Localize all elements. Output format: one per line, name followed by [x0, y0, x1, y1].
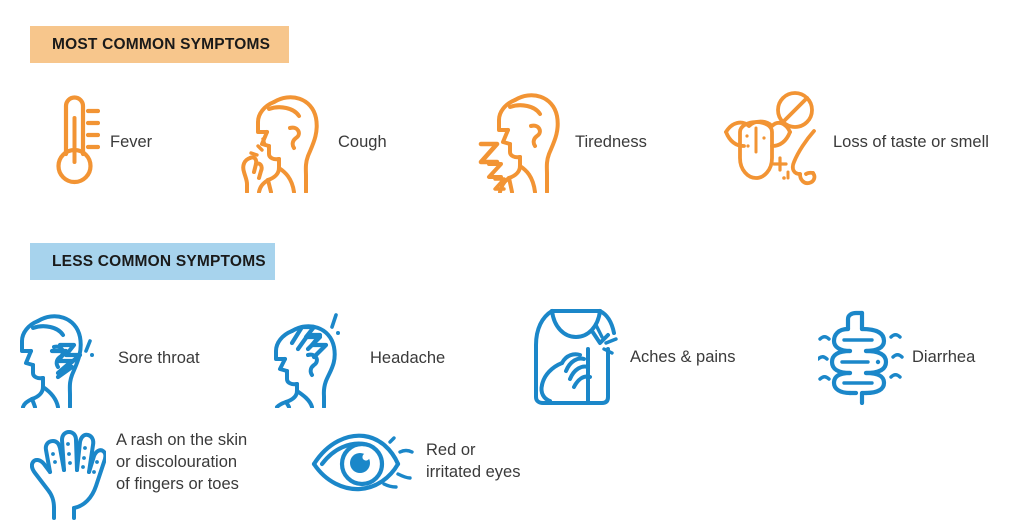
- symptom-headache-label: Headache: [370, 348, 445, 370]
- banner-most-common-symptoms: MOST COMMON SYMPTOMS: [30, 26, 289, 63]
- symptom-sore-throat-label: Sore throat: [118, 348, 200, 370]
- hand-rash-icon: [30, 428, 106, 525]
- symptom-sore-throat: Sore throat: [14, 305, 200, 413]
- tongue-nose-blocked-icon: [718, 88, 823, 198]
- symptom-fever: Fever: [40, 88, 152, 198]
- symptom-rash-on-skin: A rash on the skin or discolouration of …: [30, 428, 247, 525]
- symptom-cough: Cough: [238, 88, 387, 198]
- banner-less-common-symptoms: LESS COMMON SYMPTOMS: [30, 243, 275, 280]
- symptom-tiredness-label: Tiredness: [575, 132, 647, 154]
- symptom-cough-label: Cough: [338, 132, 387, 154]
- symptom-fever-label: Fever: [110, 132, 152, 154]
- symptom-aches-and-pains: Aches & pains: [530, 305, 735, 410]
- eye-icon: [308, 432, 416, 499]
- symptom-diarrhea: Diarrhea: [818, 305, 975, 410]
- symptom-headache: Headache: [268, 305, 445, 413]
- symptom-loss-of-taste-or-smell-label: Loss of taste or smell: [833, 132, 989, 154]
- symptom-loss-of-taste-or-smell: Loss of taste or smell: [718, 88, 989, 198]
- coughing-person-icon: [238, 88, 328, 198]
- throat-pain-icon: [14, 305, 110, 413]
- symptom-tiredness: Tiredness: [473, 88, 647, 198]
- symptom-diarrhea-label: Diarrhea: [912, 347, 975, 369]
- sleeping-person-zzz-icon: [473, 88, 565, 198]
- symptom-rash-on-skin-label: A rash on the skin or discolouration of …: [116, 430, 247, 495]
- symptom-red-or-irritated-eyes-label: Red or irritated eyes: [426, 440, 520, 484]
- head-pain-icon: [268, 305, 362, 413]
- intestines-icon: [818, 305, 904, 410]
- thermometer-icon: [40, 88, 100, 198]
- banner-most-common-label: MOST COMMON SYMPTOMS: [52, 36, 270, 54]
- symptom-red-or-irritated-eyes: Red or irritated eyes: [308, 432, 520, 499]
- symptom-aches-and-pains-label: Aches & pains: [630, 347, 735, 369]
- banner-less-common-label: LESS COMMON SYMPTOMS: [52, 253, 266, 271]
- shoulder-pain-icon: [530, 305, 622, 410]
